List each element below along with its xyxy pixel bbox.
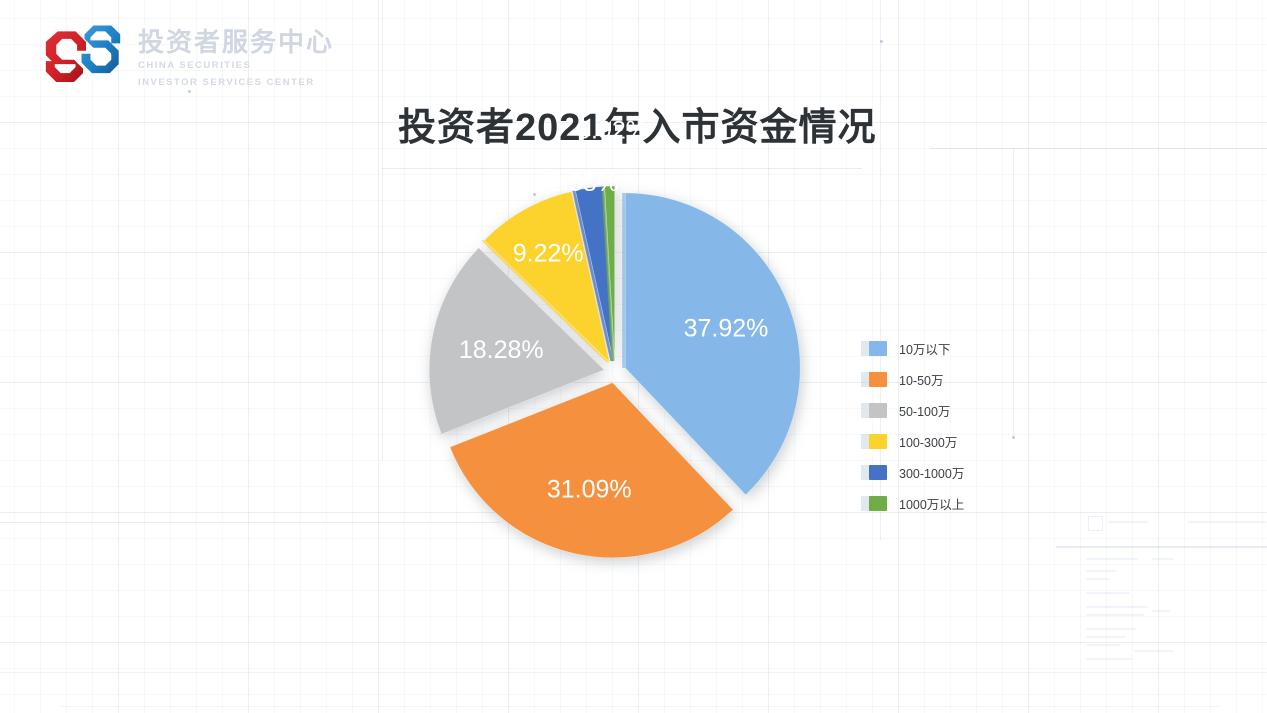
legend-swatch-4	[869, 465, 887, 480]
brand-name-en-line2: INVESTOR SERVICES CENTER	[138, 76, 334, 90]
legend-item-3[interactable]: 100-300万	[869, 426, 964, 457]
legend-item-5[interactable]: 1000万以上	[869, 488, 964, 519]
background-document-decoration	[1056, 498, 1267, 673]
legend-swatch-holder	[869, 496, 887, 511]
legend-swatch-5	[869, 496, 887, 511]
legend-item-2[interactable]: 50-100万	[869, 395, 964, 426]
brand-logo: 投资者服务中心 CHINA SECURITIES INVESTOR SERVIC…	[44, 24, 334, 90]
legend-label-0: 10万以下	[899, 339, 950, 358]
pie-data-label-5: 0.92%	[577, 117, 648, 145]
legend-swatch-holder	[869, 434, 887, 449]
bg-accent-dot	[880, 40, 883, 43]
bg-accent-dot	[188, 90, 191, 93]
legend-swatch-2	[869, 403, 887, 418]
legend-swatch-holder	[869, 341, 887, 356]
legend-label-2: 50-100万	[899, 401, 950, 420]
bg-accent-line	[382, 168, 862, 169]
pie-data-label-1: 31.09%	[547, 476, 632, 504]
bg-accent-line	[0, 672, 1267, 673]
csisc-interlocking-logo-icon	[44, 24, 122, 82]
legend-swatch-1	[869, 372, 887, 387]
legend-item-0[interactable]: 10万以下	[869, 333, 964, 364]
pie-data-label-0: 37.92%	[684, 315, 769, 343]
legend-label-1: 10-50万	[899, 370, 943, 389]
legend-swatch-3	[869, 434, 887, 449]
legend-label-5: 1000万以上	[899, 494, 964, 513]
pie-slice-edge-0	[622, 193, 625, 368]
legend-item-1[interactable]: 10-50万	[869, 364, 964, 395]
bg-accent-line	[1013, 148, 1014, 438]
brand-name-en-line1: CHINA SECURITIES	[138, 59, 334, 73]
legend-swatch-holder	[869, 403, 887, 418]
chart-legend: 10万以下10-50万50-100万100-300万300-1000万1000万…	[869, 333, 964, 519]
pie-data-label-3: 9.22%	[513, 239, 584, 267]
bg-accent-dot	[1012, 436, 1015, 439]
legend-swatch-holder	[869, 465, 887, 480]
legend-item-4[interactable]: 300-1000万	[869, 457, 964, 488]
bg-accent-line	[382, 0, 383, 460]
pie-chart: 37.92%31.09%18.28%9.22%2.58%0.92%	[410, 175, 850, 575]
bg-accent-line	[60, 706, 1220, 707]
pie-data-label-4: 2.58%	[548, 169, 619, 197]
legend-swatch-holder	[869, 372, 887, 387]
pie-chart-svg: 37.92%31.09%18.28%9.22%2.58%0.92%	[410, 175, 850, 575]
legend-swatch-0	[869, 341, 887, 356]
legend-label-3: 100-300万	[899, 432, 957, 451]
pie-data-label-2: 18.28%	[459, 336, 544, 364]
legend-label-4: 300-1000万	[899, 463, 964, 482]
bg-accent-line	[930, 148, 1267, 149]
brand-name-cn: 投资者服务中心	[138, 29, 334, 56]
